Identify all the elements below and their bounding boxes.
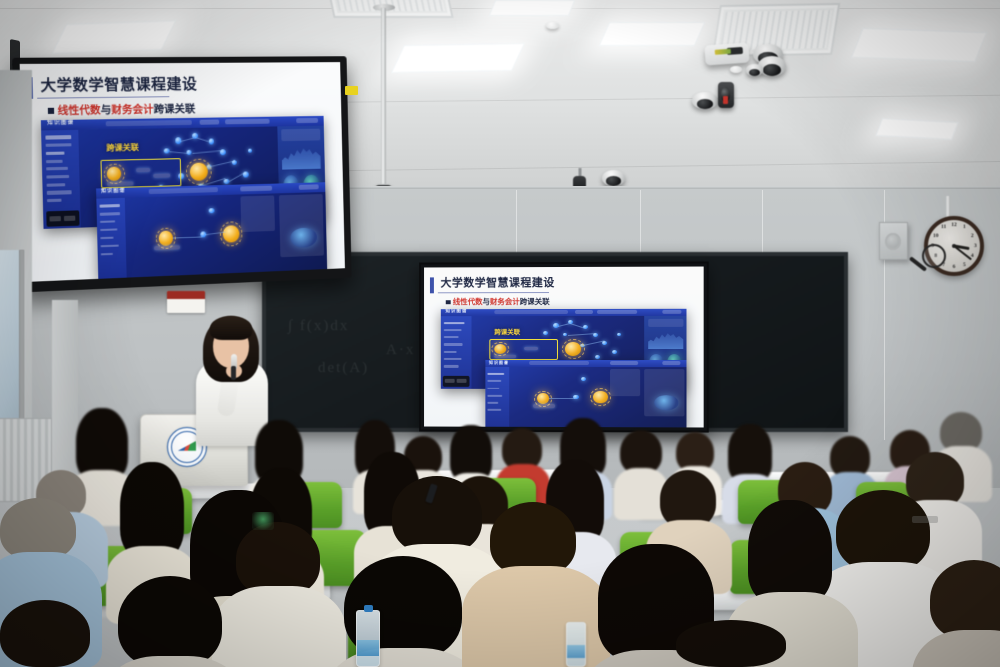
projected-subtitle-part-1: 线性代数	[453, 297, 483, 306]
sidebar-item[interactable]	[487, 409, 501, 411]
sidebar-item[interactable]	[100, 236, 113, 239]
detail-hub-node-b[interactable]	[223, 225, 239, 242]
knowledge-graph-detail-window[interactable]: 知识图谱	[96, 182, 326, 279]
node-chip[interactable]	[136, 168, 150, 172]
sidebar-item[interactable]	[46, 175, 69, 179]
graph-node[interactable]	[612, 350, 617, 354]
projected-action-button[interactable]	[597, 310, 637, 314]
projected-slide-accent-bar	[430, 277, 434, 293]
trend-area-chart	[282, 144, 321, 169]
projected-detail-logo: 知识图谱	[489, 361, 509, 367]
projected-dashboard-logo: 知识图谱	[445, 310, 467, 315]
slide-subtitle-part-1: 线性代数	[57, 104, 100, 117]
hub-node-secondary[interactable]	[190, 162, 209, 180]
bullet-square-icon	[48, 108, 54, 114]
projected-node-chip[interactable]	[524, 347, 539, 350]
sidebar-item[interactable]	[46, 159, 62, 163]
sidebar-item[interactable]	[444, 351, 457, 353]
footer-button[interactable]	[63, 216, 75, 222]
detail-logo: 知识图谱	[101, 189, 126, 197]
sidebar-item[interactable]	[46, 167, 67, 171]
sidebar-item[interactable]	[101, 252, 114, 255]
graph-node[interactable]	[175, 137, 182, 143]
projected-trend-chart	[648, 330, 683, 349]
graph-node[interactable]	[543, 331, 548, 335]
sidebar-item[interactable]	[487, 380, 500, 382]
slide-title-rule	[37, 96, 169, 99]
dashboard-footer-panel	[47, 211, 80, 227]
slide-content: 大学数学智慧课程建设 线性代数与财务会计跨课关联 知识图谱	[20, 62, 345, 282]
projected-slide-subtitle: 线性代数与财务会计跨课关联	[446, 296, 550, 307]
tv-screen: 大学数学智慧课程建设 线性代数与财务会计跨课关联 知识图谱	[20, 62, 345, 282]
dashboard-sidebar[interactable]	[42, 129, 81, 228]
sidebar-item[interactable]	[487, 395, 502, 397]
hub-node-primary[interactable]	[107, 166, 122, 180]
bottle-label	[357, 640, 379, 657]
shirt-graphic	[252, 512, 274, 530]
dome-camera	[746, 64, 763, 76]
sidebar-header	[487, 373, 504, 375]
projected-slide-title: 大学数学智慧课程建设	[441, 274, 555, 290]
sidebar-item[interactable]	[444, 343, 463, 345]
ceiling-ptz-camera	[718, 82, 734, 108]
slide-subtitle-part-3: 财务会计	[111, 104, 154, 117]
projected-detail-node[interactable]	[581, 377, 586, 381]
detail-node-chip[interactable]	[154, 245, 180, 250]
wall-mounted-tv[interactable]: 大学数学智慧课程建设 线性代数与财务会计跨课关联 知识图谱	[12, 56, 352, 292]
projected-user-menu[interactable]	[662, 310, 682, 314]
classroom-scene: 12 1 2 3 4 5 6 7 8 9 10 11 ∫ f(x)dx A·x …	[0, 0, 1000, 667]
footer-button[interactable]	[457, 379, 467, 383]
presenter-hair-front	[210, 316, 252, 340]
sidebar-item[interactable]	[46, 143, 72, 147]
graph-node[interactable]	[164, 148, 170, 153]
projection-screen-frame: 大学数学智慧课程建设 线性代数与财务会计跨课关联 知识图谱	[419, 261, 709, 432]
sidebar-header	[45, 136, 71, 140]
sidebar-item[interactable]	[487, 387, 499, 389]
sidebar-item[interactable]	[444, 336, 459, 338]
dome-camera	[758, 56, 786, 76]
projected-detail-toolbar: 知识图谱	[485, 360, 687, 368]
projected-node-chip[interactable]	[494, 355, 516, 358]
graph-node[interactable]	[563, 333, 567, 337]
sidebar-item[interactable]	[444, 329, 462, 331]
dashboard-search-input[interactable]	[106, 120, 192, 127]
detail-hub-node-a[interactable]	[159, 231, 173, 246]
projected-detail-gauge	[654, 395, 678, 410]
sidebar-header	[100, 204, 120, 207]
bullet-square-icon	[446, 300, 450, 304]
detail-panel-card	[240, 196, 275, 232]
projected-slide-title-rule	[438, 292, 549, 294]
presenter	[186, 310, 276, 440]
projected-detail-action[interactable]	[610, 361, 638, 365]
slide-subtitle: 线性代数与财务会计跨课关联	[48, 101, 196, 118]
projected-footer-panel	[443, 376, 470, 387]
sidebar-item[interactable]	[47, 199, 62, 203]
water-bottle[interactable]	[356, 610, 380, 667]
wall-speaker	[879, 222, 908, 260]
ceiling-panel-light	[851, 28, 987, 62]
graph-node[interactable]	[248, 149, 252, 153]
detail-user-menu[interactable]	[298, 184, 318, 190]
node-chip[interactable]	[107, 181, 133, 186]
projection-screen-surface: 大学数学智慧课程建设 线性代数与财务会计跨课关联 知识图谱	[424, 267, 704, 428]
projector-unit	[704, 42, 749, 65]
sidebar-item[interactable]	[101, 244, 119, 247]
projected-detail-hub-b[interactable]	[593, 391, 607, 404]
tv-corner-sticker	[345, 86, 358, 95]
dashboard-filter-button[interactable]	[200, 120, 220, 125]
detail-panel-card	[279, 194, 325, 257]
node-chip[interactable]	[153, 174, 170, 178]
microphone-body	[231, 366, 236, 380]
bottle-cap	[364, 605, 373, 612]
detail-action-button[interactable]	[240, 186, 272, 192]
graph-node[interactable]	[617, 333, 621, 336]
crosslink-highlight-box	[101, 159, 182, 189]
projected-subtitle-part-2: 与	[483, 297, 490, 306]
magnifier-glass	[922, 244, 946, 268]
footer-button[interactable]	[445, 379, 455, 383]
projected-subtitle-part-3: 财务会计	[490, 297, 520, 306]
ceiling-panel-light	[391, 43, 525, 73]
slide-title: 大学数学智慧课程建设	[40, 72, 197, 95]
dome-camera	[692, 92, 718, 109]
tv-bezel: 大学数学智慧课程建设 线性代数与财务会计跨课关联 知识图谱	[12, 56, 352, 292]
panel-card	[648, 319, 683, 328]
graph-node[interactable]	[595, 355, 600, 359]
detail-graph-node[interactable]	[209, 208, 215, 213]
shirt-logo	[912, 516, 938, 523]
slide-subtitle-part-4: 跨课关联	[153, 103, 195, 116]
sidebar-item[interactable]	[47, 191, 71, 195]
ceiling-panel-light	[599, 22, 706, 46]
sidebar-header	[444, 322, 465, 324]
sidebar-item[interactable]	[46, 151, 64, 155]
projected-detail-chip[interactable]	[533, 404, 555, 407]
water-bottle[interactable]	[566, 622, 586, 667]
footer-button[interactable]	[49, 216, 61, 222]
projected-detail-hub-a[interactable]	[537, 393, 549, 404]
projection-screen[interactable]: 大学数学智慧课程建设 线性代数与财务会计跨课关联 知识图谱	[419, 261, 709, 432]
dashboard-action-button[interactable]	[225, 119, 269, 125]
sidebar-item[interactable]	[100, 212, 120, 215]
sidebar-item[interactable]	[100, 220, 115, 223]
crosslink-label: 跨课关联	[106, 142, 139, 154]
projected-detail-sidebar[interactable]	[485, 367, 509, 427]
sidebar-item[interactable]	[444, 365, 459, 367]
sidebar-item[interactable]	[444, 358, 462, 360]
graph-node[interactable]	[179, 173, 185, 178]
smoke-detector	[546, 22, 559, 29]
ceiling-panel-light	[52, 20, 177, 54]
bottle-label	[567, 645, 585, 658]
projected-hub-node-primary[interactable]	[494, 344, 506, 354]
camera-status-led	[723, 96, 728, 104]
projected-filter-button[interactable]	[575, 310, 592, 314]
projected-detail-card	[610, 369, 640, 396]
panel-card	[281, 129, 320, 141]
projected-hub-node-secondary[interactable]	[565, 342, 581, 356]
projected-subtitle-part-4: 跨课关联	[520, 297, 550, 306]
sidebar-item[interactable]	[487, 402, 498, 404]
projected-slide-content: 大学数学智慧课程建设 线性代数与财务会计跨课关联 知识图谱	[424, 267, 704, 428]
projected-detail-search[interactable]	[529, 361, 589, 365]
sign-header-bar	[167, 291, 205, 299]
smoke-detector	[730, 66, 742, 73]
dome-camera	[602, 170, 625, 186]
sidebar-item[interactable]	[47, 183, 65, 187]
detail-sidebar[interactable]	[97, 198, 127, 279]
slide-subtitle-part-2: 与	[100, 104, 111, 116]
left-wall-pillar	[52, 300, 78, 490]
dashboard-logo: 知识图谱	[47, 121, 74, 129]
projected-detail-user[interactable]	[662, 361, 680, 365]
projected-search-input[interactable]	[494, 310, 568, 314]
sidebar-item[interactable]	[100, 228, 117, 231]
dashboard-user-menu[interactable]	[296, 118, 318, 123]
graph-node[interactable]	[159, 184, 164, 188]
projected-crosslink-label: 跨课关联	[494, 326, 520, 336]
camera-pole	[381, 8, 386, 184]
detail-search-input[interactable]	[148, 187, 217, 194]
ceiling-panel-light	[489, 0, 575, 16]
